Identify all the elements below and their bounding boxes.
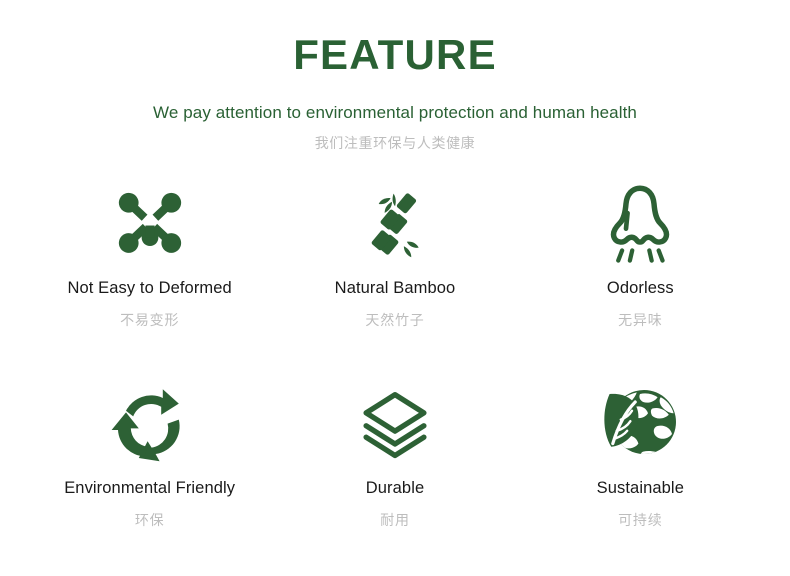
feature-label-english: Odorless xyxy=(607,278,674,299)
feature-label-english: Environmental Friendly xyxy=(64,478,235,499)
nose-icon xyxy=(601,174,679,274)
feature-label-english: Sustainable xyxy=(597,478,684,499)
lattice-nodes-icon xyxy=(112,174,188,274)
subtitle-chinese: 我们注重环保与人类健康 xyxy=(0,135,790,152)
feature-label-chinese: 耐用 xyxy=(380,511,410,529)
feature-label-chinese: 无异味 xyxy=(618,311,662,329)
feature-item-sustainable: Sustainable 可持续 xyxy=(518,370,763,566)
subtitle-english: We pay attention to environmental protec… xyxy=(0,103,790,123)
feature-grid: Not Easy to Deformed 不易变形 xyxy=(27,174,763,566)
layers-stack-icon xyxy=(357,370,433,474)
feature-label-chinese: 环保 xyxy=(135,511,165,529)
recycle-icon xyxy=(110,370,190,474)
feature-item-not-easy-to-deformed: Not Easy to Deformed 不易变形 xyxy=(27,174,272,370)
bamboo-icon xyxy=(358,174,432,274)
feature-label-english: Natural Bamboo xyxy=(335,278,456,299)
feature-label-chinese: 不易变形 xyxy=(120,311,179,329)
feature-label-english: Not Easy to Deformed xyxy=(68,278,232,299)
feature-item-environmental-friendly: Environmental Friendly 环保 xyxy=(27,370,272,566)
feature-item-odorless: Odorless 无异味 xyxy=(518,174,763,370)
feature-item-durable: Durable 耐用 xyxy=(272,370,517,566)
feature-section: FEATURE We pay attention to environmenta… xyxy=(0,0,790,576)
section-header: FEATURE We pay attention to environmenta… xyxy=(0,0,790,152)
feature-label-chinese: 天然竹子 xyxy=(365,311,424,329)
page-title: FEATURE xyxy=(0,33,790,77)
feature-label-english: Durable xyxy=(366,478,424,499)
globe-leaf-icon xyxy=(600,370,680,474)
feature-label-chinese: 可持续 xyxy=(618,511,662,529)
feature-item-natural-bamboo: Natural Bamboo 天然竹子 xyxy=(272,174,517,370)
